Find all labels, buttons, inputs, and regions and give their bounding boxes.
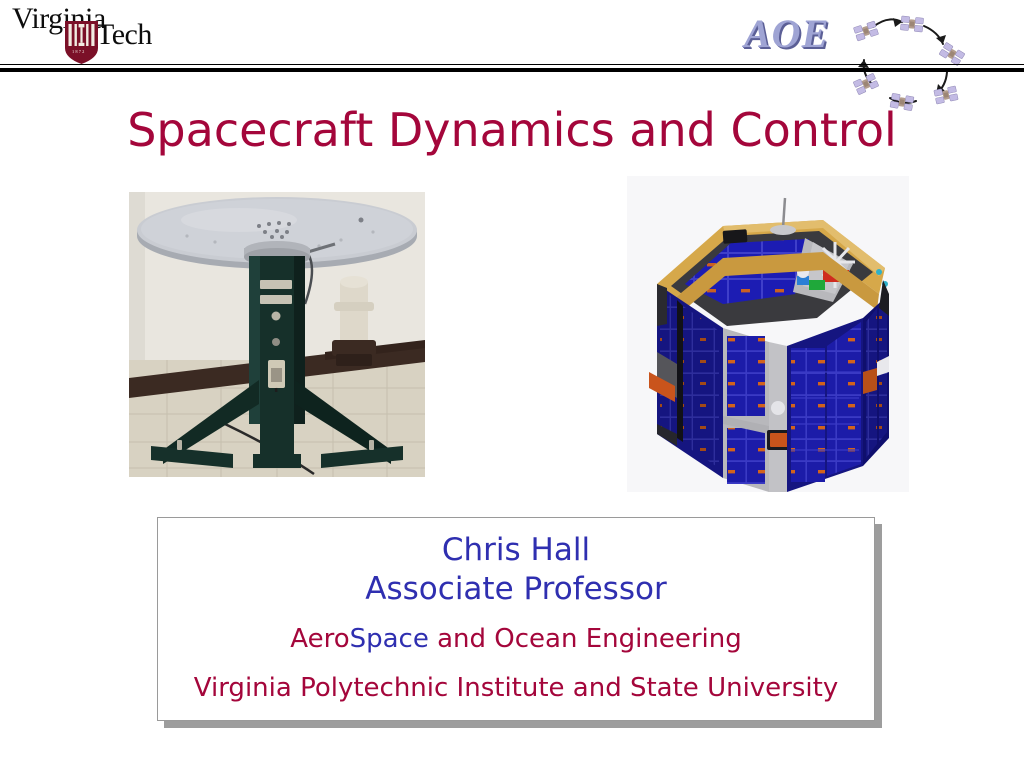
institution-line: Virginia Polytechnic Institute and State…	[158, 673, 874, 704]
airbearing-table-illustration	[129, 192, 425, 477]
department-line: AeroSpace and Ocean Engineering	[158, 624, 874, 655]
aoe-logo: AOE	[744, 2, 984, 114]
presenter-name: Chris Hall	[158, 532, 874, 569]
satellite-cad-render	[627, 176, 909, 492]
vt-logo-word-tech: Tech	[96, 20, 152, 50]
satellite-illustration	[627, 176, 909, 492]
vt-shield-icon: 1872	[64, 20, 99, 65]
department-part-space: Space	[350, 624, 429, 654]
svg-text:1872: 1872	[72, 49, 86, 54]
airbearing-table-photo	[129, 192, 425, 477]
presenter-role: Associate Professor	[158, 571, 874, 608]
department-part-aero: Aero	[290, 624, 349, 654]
header-divider-thick	[0, 68, 1024, 72]
page-title: Spacecraft Dynamics and Control	[0, 104, 1024, 157]
header-divider-thin	[0, 64, 1024, 65]
slide-header: Virginia Tech 1872 AOE	[0, 0, 1024, 72]
aoe-orbit-satellites-icon	[840, 2, 984, 114]
department-part-rest: and Ocean Engineering	[429, 624, 742, 654]
credits-textbox: Chris Hall Associate Professor AeroSpace…	[157, 517, 875, 721]
aoe-logo-text: AOE	[744, 14, 829, 54]
virginia-tech-logo: Virginia Tech 1872	[12, 4, 172, 66]
